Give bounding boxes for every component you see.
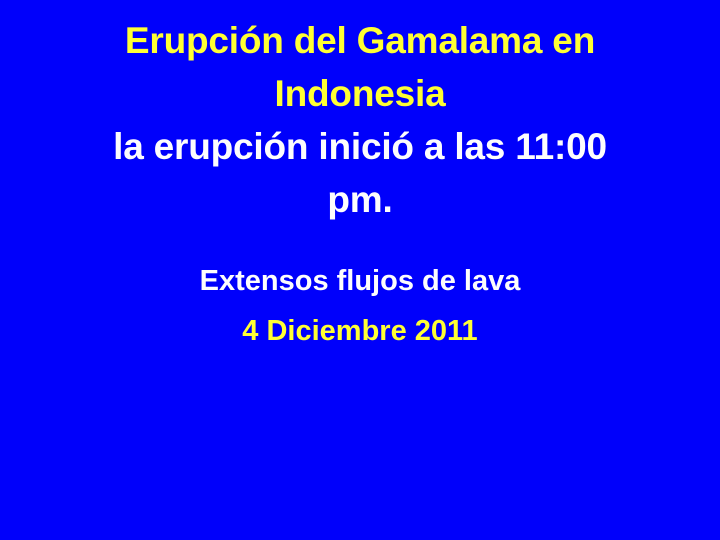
body-line-date: 4 Diciembre 2011 bbox=[36, 306, 684, 356]
title-line-2: Indonesia bbox=[36, 67, 684, 120]
title-line-4: pm. bbox=[36, 173, 684, 226]
body-line-lava-flows: Extensos flujos de lava bbox=[36, 256, 684, 306]
slide-title-placeholder[interactable]: Erupción del Gamalama en Indonesia la er… bbox=[36, 14, 684, 226]
presentation-slide: Erupción del Gamalama en Indonesia la er… bbox=[0, 0, 720, 540]
slide-body-placeholder[interactable]: Extensos flujos de lava 4 Diciembre 2011 bbox=[36, 256, 684, 356]
title-line-3: la erupción inició a las 11:00 bbox=[36, 120, 684, 173]
title-line-1: Erupción del Gamalama en bbox=[36, 14, 684, 67]
